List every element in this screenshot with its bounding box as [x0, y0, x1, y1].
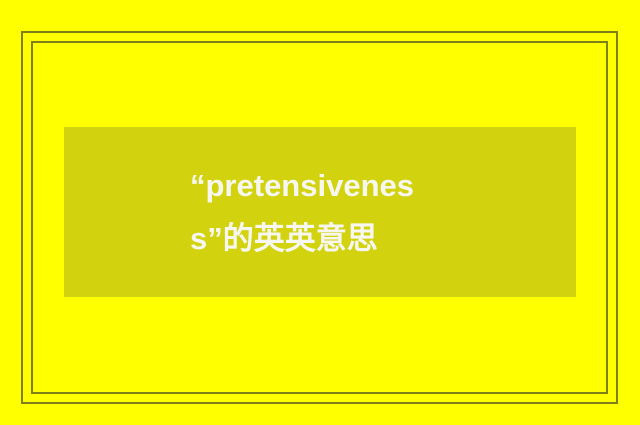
poster-canvas: “pretensiveness”的英英意思 — [0, 0, 640, 425]
page-title: “pretensiveness”的英英意思 — [190, 159, 450, 265]
title-banner-panel: “pretensiveness”的英英意思 — [64, 127, 576, 297]
